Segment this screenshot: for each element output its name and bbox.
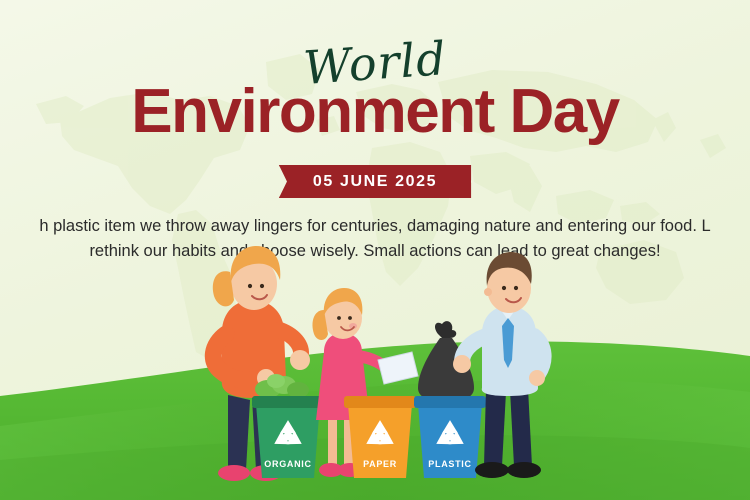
bin-label-paper: PAPER — [363, 459, 397, 469]
bin-paper: PAPER — [344, 396, 416, 478]
bin-plastic: PLASTIC — [414, 396, 486, 478]
bin-label-plastic: PLASTIC — [428, 459, 471, 469]
recycling-illustration: ORGANIC — [0, 0, 750, 500]
bin-organic: ORGANIC — [252, 396, 324, 478]
paper-sheet-item — [378, 352, 418, 384]
bin-label-organic: ORGANIC — [264, 459, 311, 469]
world-environment-day-poster: World Environment Day 05 JUNE 2025 h pla… — [0, 0, 750, 500]
